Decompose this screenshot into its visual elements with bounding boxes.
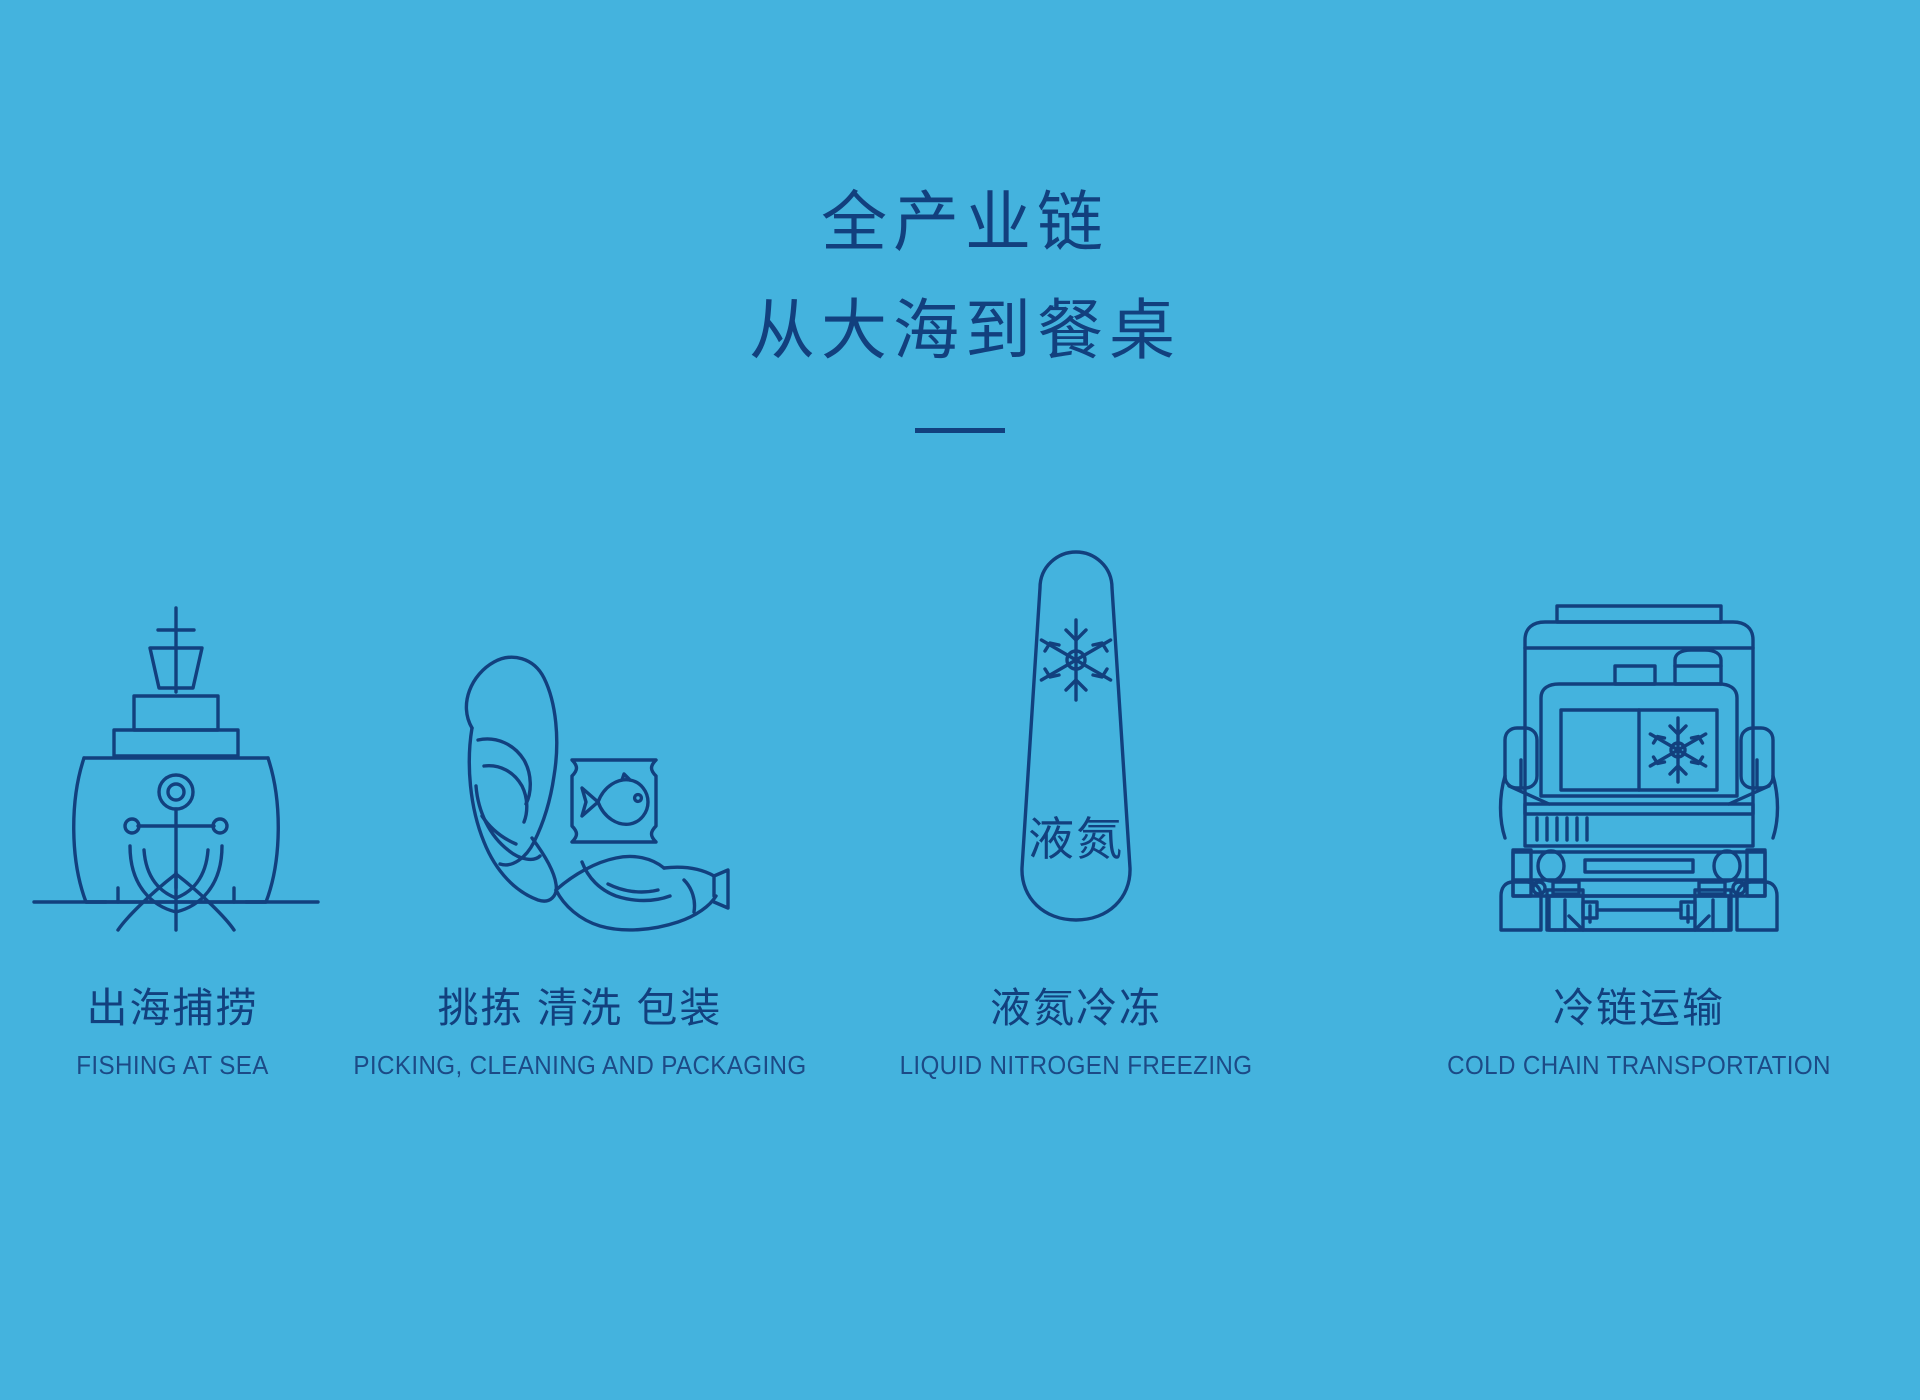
hands-with-packaged-fish-icon [328,530,848,930]
step-captions: 液氮冷冻 LIQUID NITROGEN FREEZING [826,982,1326,1082]
page-title-primary: 全产业链 [10,170,1920,278]
process-steps-row: 出海捕捞 FISHING AT SEA [0,530,1920,1082]
liquid-nitrogen-tank-icon: 液氮 [826,530,1326,930]
step-title-en: LIQUID NITROGEN FREEZING [844,1048,1309,1082]
refrigerated-truck-icon [1374,530,1904,930]
infographic-canvas: 全产业链 从大海到餐桌 [0,0,1920,1400]
step-captions: 挑拣 清洗 包装 PICKING, CLEANING AND PACKAGING [320,982,840,1082]
step-captions: 出海捕捞 FISHING AT SEA [0,982,345,1082]
fishing-boat-icon [3,530,348,930]
snowflake-icon [1041,620,1110,700]
step-title-cn: 挑拣 清洗 包装 [320,982,840,1034]
heading-divider-wrap [0,422,1920,440]
page-title-secondary: 从大海到餐桌 [10,278,1920,386]
tank-label: 液氮 [1028,813,1124,865]
step-freezing: 液氮 液氮冷冻 LIQUID NITROGEN FREEZING [848,530,1348,1082]
step-captions: 冷链运输 COLD CHAIN TRANSPORTATION [1374,982,1904,1082]
step-title-cn: 冷链运输 [1374,982,1904,1034]
step-fishing: 出海捕捞 FISHING AT SEA [0,530,320,1082]
snowflake-icon [1650,718,1705,782]
step-title-en: PICKING, CLEANING AND PACKAGING [338,1048,822,1082]
step-transport: 冷链运输 COLD CHAIN TRANSPORTATION [1356,530,1886,1082]
heading-divider [915,428,1005,433]
step-title-cn: 液氮冷冻 [826,982,1326,1034]
step-title-cn: 出海捕捞 [0,982,345,1034]
step-title-en: FISHING AT SEA [12,1048,333,1082]
step-title-en: COLD CHAIN TRANSPORTATION [1393,1048,1886,1082]
heading-block: 全产业链 从大海到餐桌 [0,170,1920,440]
step-processing: 挑拣 清洗 包装 PICKING, CLEANING AND PACKAGING [320,530,840,1082]
